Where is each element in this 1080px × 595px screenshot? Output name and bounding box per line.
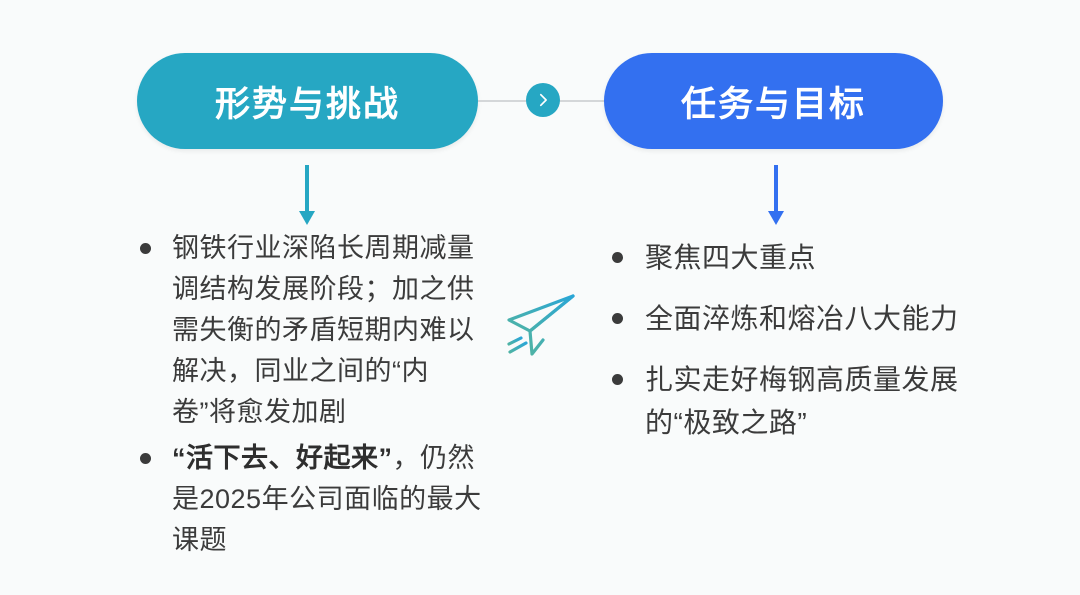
pill-connector bbox=[478, 99, 606, 103]
paper-plane-icon bbox=[497, 288, 583, 362]
chevron-right-icon bbox=[535, 92, 551, 108]
list-item: “活下去、好起来”，仍然是2025年公司面临的最大课题 bbox=[140, 438, 490, 561]
down-arrow-right bbox=[763, 165, 789, 227]
list-item: 扎实走好梅钢高质量发展的“极致之路” bbox=[612, 358, 1012, 444]
bullet-dot-icon bbox=[140, 243, 151, 254]
bullet-list-mission: 聚焦四大重点 全面淬炼和熔冶八大能力 扎实走好梅钢高质量发展的“极致之路” bbox=[612, 236, 1012, 444]
list-item-text: 扎实走好梅钢高质量发展的“极致之路” bbox=[645, 358, 1012, 444]
bullet-dot-icon bbox=[140, 453, 151, 464]
down-arrow-left bbox=[294, 165, 320, 227]
bullet-list-situation: 钢铁行业深陷长周期减量调结构发展阶段；加之供需失衡的矛盾短期内难以解决，同业之间… bbox=[140, 228, 490, 561]
slide-canvas: 形势与挑战 任务与目标 钢铁行业深陷长周期减量调结构发展阶段 bbox=[0, 0, 1080, 595]
header-pill-situation[interactable]: 形势与挑战 bbox=[137, 53, 478, 149]
list-item-emphasis: “活下去、好起来” bbox=[172, 443, 393, 473]
header-pill-mission-label: 任务与目标 bbox=[681, 76, 866, 127]
list-item: 全面淬炼和熔冶八大能力 bbox=[612, 297, 1012, 340]
header-pill-situation-label: 形势与挑战 bbox=[215, 76, 400, 127]
header-pill-mission[interactable]: 任务与目标 bbox=[604, 53, 943, 149]
list-item: 钢铁行业深陷长周期减量调结构发展阶段；加之供需失衡的矛盾短期内难以解决，同业之间… bbox=[140, 228, 490, 433]
bullet-dot-icon bbox=[612, 374, 623, 385]
bullet-dot-icon bbox=[612, 313, 623, 324]
list-item-text: 钢铁行业深陷长周期减量调结构发展阶段；加之供需失衡的矛盾短期内难以解决，同业之间… bbox=[172, 228, 490, 433]
list-item-text: “活下去、好起来”，仍然是2025年公司面临的最大课题 bbox=[172, 438, 490, 561]
list-item-text: 聚焦四大重点 bbox=[645, 236, 1012, 279]
bullet-dot-icon bbox=[612, 252, 623, 263]
list-item-text: 全面淬炼和熔冶八大能力 bbox=[645, 297, 1012, 340]
connector-node[interactable] bbox=[526, 83, 560, 117]
list-item: 聚焦四大重点 bbox=[612, 236, 1012, 279]
